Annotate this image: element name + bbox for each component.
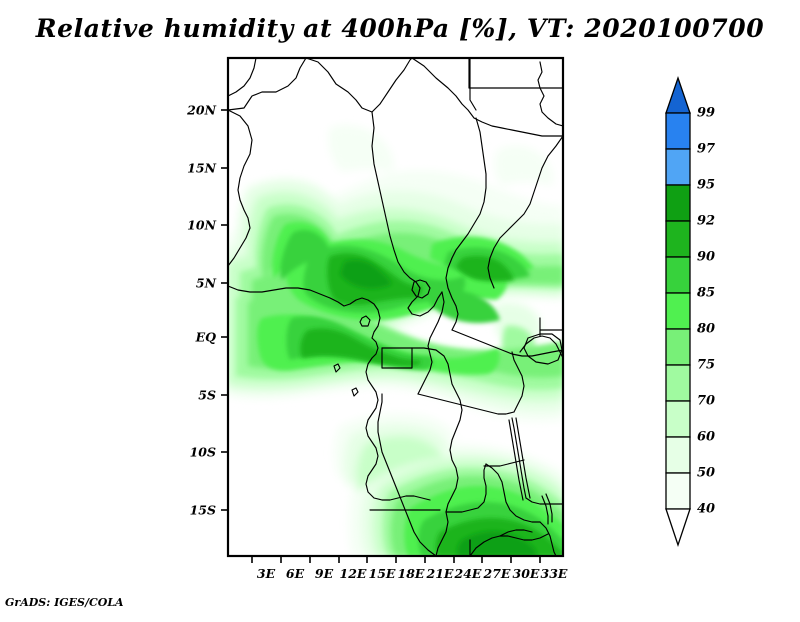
y-tick-label-15N: 15N (176, 161, 216, 176)
colorbar-band-60-70 (666, 401, 690, 437)
y-tick-label-10N: 10N (176, 218, 216, 233)
credit-text: GrADS: IGES/COLA (5, 596, 124, 609)
colorbar-under-arrow (666, 509, 690, 545)
x-tick-label-30E: 30E (513, 566, 540, 581)
colorbar-tick-label-97: 97 (697, 142, 715, 157)
colorbar-band-70-75 (666, 365, 690, 401)
colorbar-tick-label-80: 80 (697, 322, 715, 337)
colorbar-band-85-90 (666, 257, 690, 293)
colorbar-tick-label-60: 60 (697, 430, 715, 445)
colorbar-tick-label-75: 75 (697, 358, 715, 373)
x-tick-label-18E: 18E (398, 566, 425, 581)
x-tick-label-21E: 21E (427, 566, 454, 581)
chart-svg (0, 0, 800, 618)
colorbar-tick-label-40: 40 (697, 502, 715, 517)
y-tick-label-5S: 5S (176, 388, 216, 403)
colorbar-band-97-99 (666, 113, 690, 149)
x-tick-label-27E: 27E (484, 566, 511, 581)
y-tick-label-EQ: EQ (176, 330, 216, 345)
colorbar-band-95-97 (666, 149, 690, 185)
y-tick-label-5N: 5N (176, 276, 216, 291)
y-tick-label-15S: 15S (176, 503, 216, 518)
colorbar-tick-label-99: 99 (697, 106, 715, 121)
x-tick-label-3E: 3E (257, 566, 275, 581)
y-tick-label-20N: 20N (176, 103, 216, 118)
colorbar-band-50-60 (666, 437, 690, 473)
colorbar-band-80-85 (666, 293, 690, 329)
colorbar-band-90-92 (666, 221, 690, 257)
x-tick-label-12E: 12E (340, 566, 367, 581)
colorbar-tick-label-70: 70 (697, 394, 715, 409)
x-tick-label-33E: 33E (541, 566, 568, 581)
y-tick-label-10S: 10S (176, 445, 216, 460)
x-tick-label-24E: 24E (455, 566, 482, 581)
colorbar (666, 78, 690, 545)
colorbar-tick-label-85: 85 (697, 286, 715, 301)
colorbar-tick-label-92: 92 (697, 214, 715, 229)
colorbar-over-arrow (666, 78, 690, 113)
chart-plot-area (0, 0, 800, 618)
colorbar-tick-label-95: 95 (697, 178, 715, 193)
x-tick-label-6E: 6E (286, 566, 304, 581)
colorbar-tick-label-50: 50 (697, 466, 715, 481)
colorbar-tick-label-90: 90 (697, 250, 715, 265)
colorbar-band-40-50 (666, 473, 690, 509)
x-tick-label-15E: 15E (369, 566, 396, 581)
x-tick-label-9E: 9E (315, 566, 333, 581)
colorbar-band-75-80 (666, 329, 690, 365)
colorbar-band-92-95 (666, 185, 690, 221)
